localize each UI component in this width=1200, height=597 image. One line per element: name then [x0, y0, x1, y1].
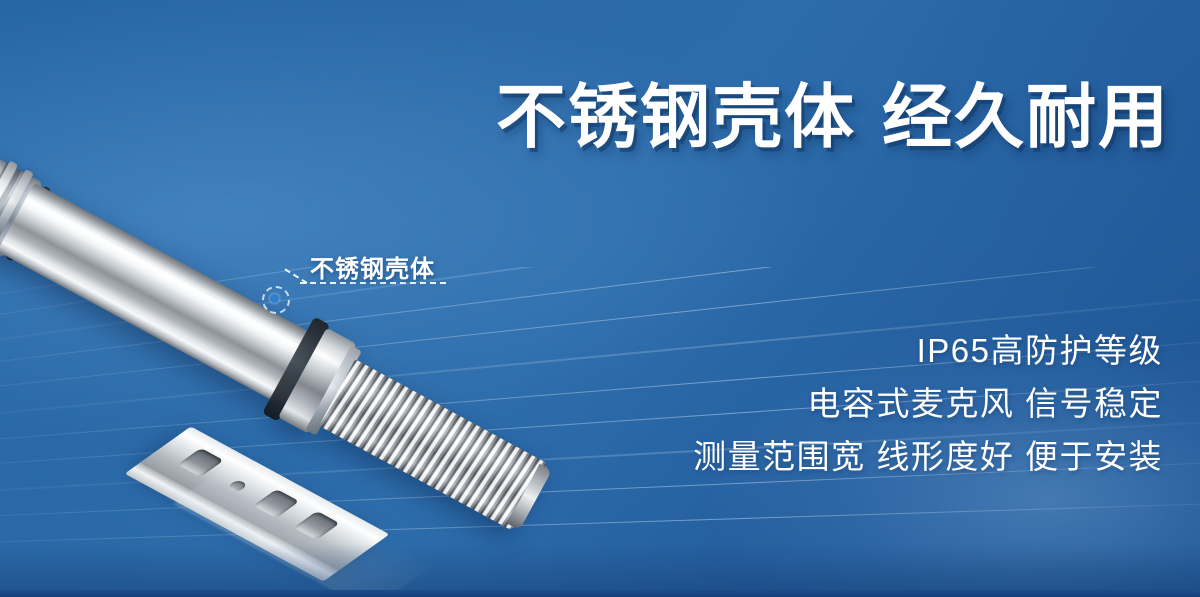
bottom-bar [0, 590, 1200, 597]
callout-label: 不锈钢壳体 [310, 249, 435, 284]
feature-item-3: 测量范围宽 线形度好 便于安装 [403, 430, 1163, 483]
headline-part-1: 不锈钢壳体 [496, 78, 856, 156]
sensor-flange [305, 346, 361, 436]
sensor-end-cap [0, 153, 43, 258]
bottom-fade [0, 544, 1200, 590]
feature-list: IP65高防护等级 电容式麦克风 信号稳定 测量范围宽 线形度好 便于安装 [403, 324, 1163, 483]
sensor-o-ring [5, 186, 51, 262]
page-title: 不锈钢壳体经久耐用 [440, 78, 1170, 156]
bracket-reflection [173, 457, 435, 597]
sensor-clamp-ring-1 [0, 160, 18, 233]
feature-item-1: IP65高防护等级 [403, 324, 1163, 377]
sensor-cable [0, 129, 6, 199]
product-banner: 不锈钢壳体 不锈钢壳体经久耐用 IP65高防护等级 电容式麦克风 信号稳定 测量… [0, 0, 1200, 597]
headline-part-2: 经久耐用 [882, 78, 1170, 156]
sensor-clamp-ring-2 [0, 169, 34, 242]
callout-marker-dot-icon [270, 294, 279, 303]
feature-item-2: 电容式麦克风 信号稳定 [403, 377, 1163, 430]
sensor-hex-nut [278, 328, 357, 434]
sensor-rubber-washer [262, 317, 330, 422]
